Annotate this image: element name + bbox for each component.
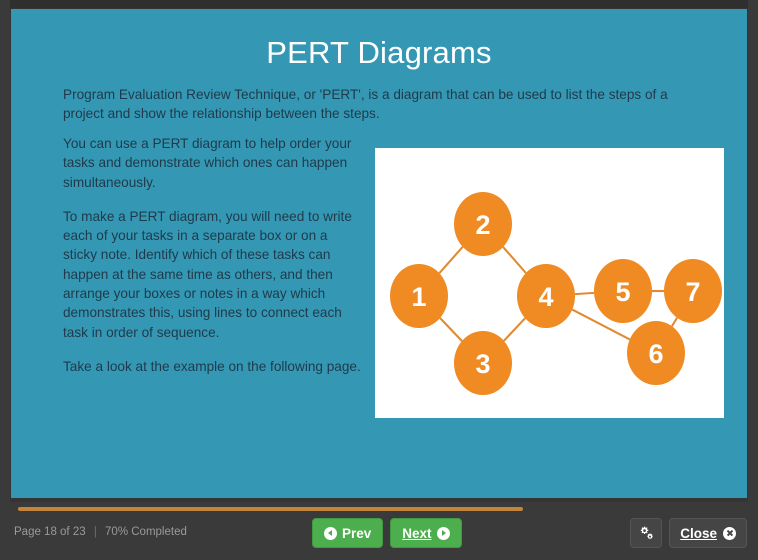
page-indicator: Page 18 of 23 — [14, 526, 86, 538]
diagram-node-7: 7 — [664, 259, 722, 323]
diagram-edge-4-5 — [575, 293, 594, 294]
window-frame-right — [748, 0, 758, 502]
diagram-node-label-2: 2 — [475, 210, 490, 240]
course-player-window: PERT Diagrams Program Evaluation Review … — [0, 0, 758, 560]
completion-indicator: 70% Completed — [105, 526, 187, 538]
diagram-node-label-7: 7 — [685, 277, 700, 307]
arrow-left-circle-icon — [324, 527, 337, 540]
diagram-edge-6-7 — [672, 318, 677, 327]
prev-button[interactable]: Prev — [312, 518, 383, 548]
diagram-edge-1-2 — [439, 247, 462, 273]
arrow-right-circle-icon — [437, 527, 450, 540]
progress-bar-fill — [18, 507, 523, 511]
diagram-node-1: 1 — [390, 264, 448, 328]
intro-paragraph: Program Evaluation Review Technique, or … — [63, 85, 697, 123]
diagram-node-label-4: 4 — [538, 282, 553, 312]
diagram-node-5: 5 — [594, 259, 652, 323]
body-text-column: You can use a PERT diagram to help order… — [63, 134, 363, 376]
body-paragraph-1: You can use a PERT diagram to help order… — [63, 134, 363, 192]
diagram-node-2: 2 — [454, 192, 512, 256]
pert-diagram-graphic: 1234567 — [375, 148, 724, 418]
gears-icon — [638, 526, 654, 541]
window-frame-top — [0, 0, 758, 8]
status-text: Page 18 of 23 | 70% Completed — [14, 526, 187, 538]
diagram-node-label-1: 1 — [411, 282, 426, 312]
status-separator: | — [89, 526, 102, 538]
navigation-buttons: Prev Next — [312, 518, 462, 548]
diagram-edge-1-3 — [440, 318, 462, 341]
close-button[interactable]: Close — [669, 518, 747, 548]
pert-diagram-panel: 1234567 — [375, 148, 724, 418]
body-paragraph-3: Take a look at the example on the follow… — [63, 357, 363, 376]
prev-button-label: Prev — [342, 526, 371, 541]
next-button[interactable]: Next — [390, 518, 461, 548]
progress-bar-track[interactable] — [18, 507, 740, 511]
slide-stage: PERT Diagrams Program Evaluation Review … — [11, 9, 747, 498]
diagram-node-label-5: 5 — [615, 277, 630, 307]
diagram-node-6: 6 — [627, 321, 685, 385]
settings-button[interactable] — [630, 518, 662, 548]
diagram-node-4: 4 — [517, 264, 575, 328]
tool-buttons: Close — [630, 518, 747, 548]
diagram-node-group: 1234567 — [390, 192, 722, 395]
next-button-label: Next — [402, 526, 431, 541]
close-circle-icon — [723, 527, 736, 540]
diagram-node-label-3: 3 — [475, 349, 490, 379]
close-button-label: Close — [680, 526, 717, 541]
diagram-edge-3-4 — [504, 318, 525, 341]
body-paragraph-2: To make a PERT diagram, you will need to… — [63, 207, 363, 342]
diagram-node-label-6: 6 — [648, 339, 663, 369]
diagram-edge-2-4 — [503, 247, 526, 273]
window-frame-left — [0, 0, 10, 502]
page-title: PERT Diagrams — [11, 35, 747, 71]
diagram-node-3: 3 — [454, 331, 512, 395]
